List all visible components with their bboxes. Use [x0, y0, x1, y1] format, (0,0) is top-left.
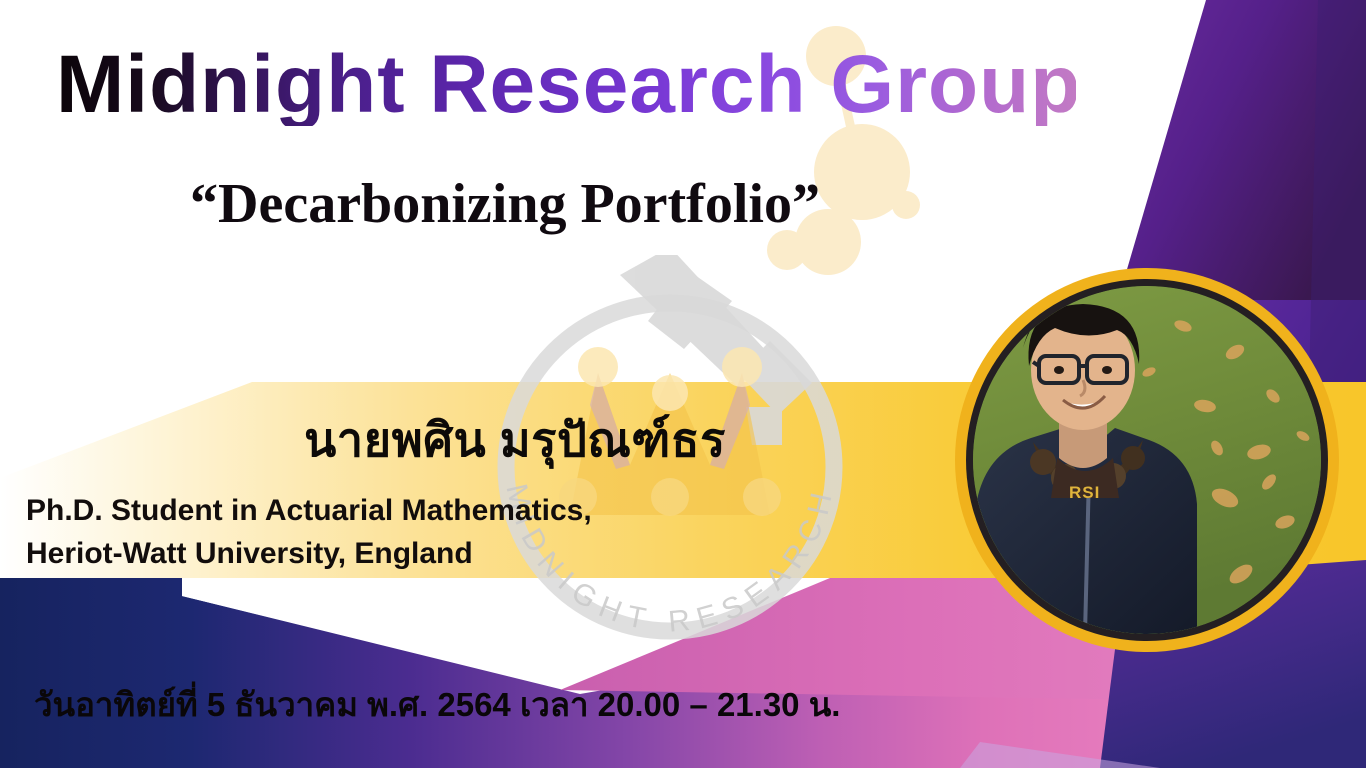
talk-subtitle: “Decarbonizing Portfolio” — [0, 172, 1010, 236]
event-datetime-thai: วันอาทิตย์ที่ 5 ธันวาคม พ.ศ. 2564 เวลา 2… — [34, 678, 840, 731]
speaker-name-thai: นายพศิน มรุปัณฑ์ธร — [0, 402, 1030, 477]
affiliation-line-2: Heriot-Watt University, England — [26, 533, 592, 576]
speaker-affiliation: Ph.D. Student in Actuarial Mathematics, … — [26, 490, 592, 575]
page-title: Midnight Research Group — [56, 44, 1076, 126]
affiliation-line-1: Ph.D. Student in Actuarial Mathematics, — [26, 490, 592, 533]
svg-text:RSI: RSI — [1069, 483, 1100, 502]
poster-canvas: MIDNIGHT RESEARCH — [0, 0, 1366, 768]
